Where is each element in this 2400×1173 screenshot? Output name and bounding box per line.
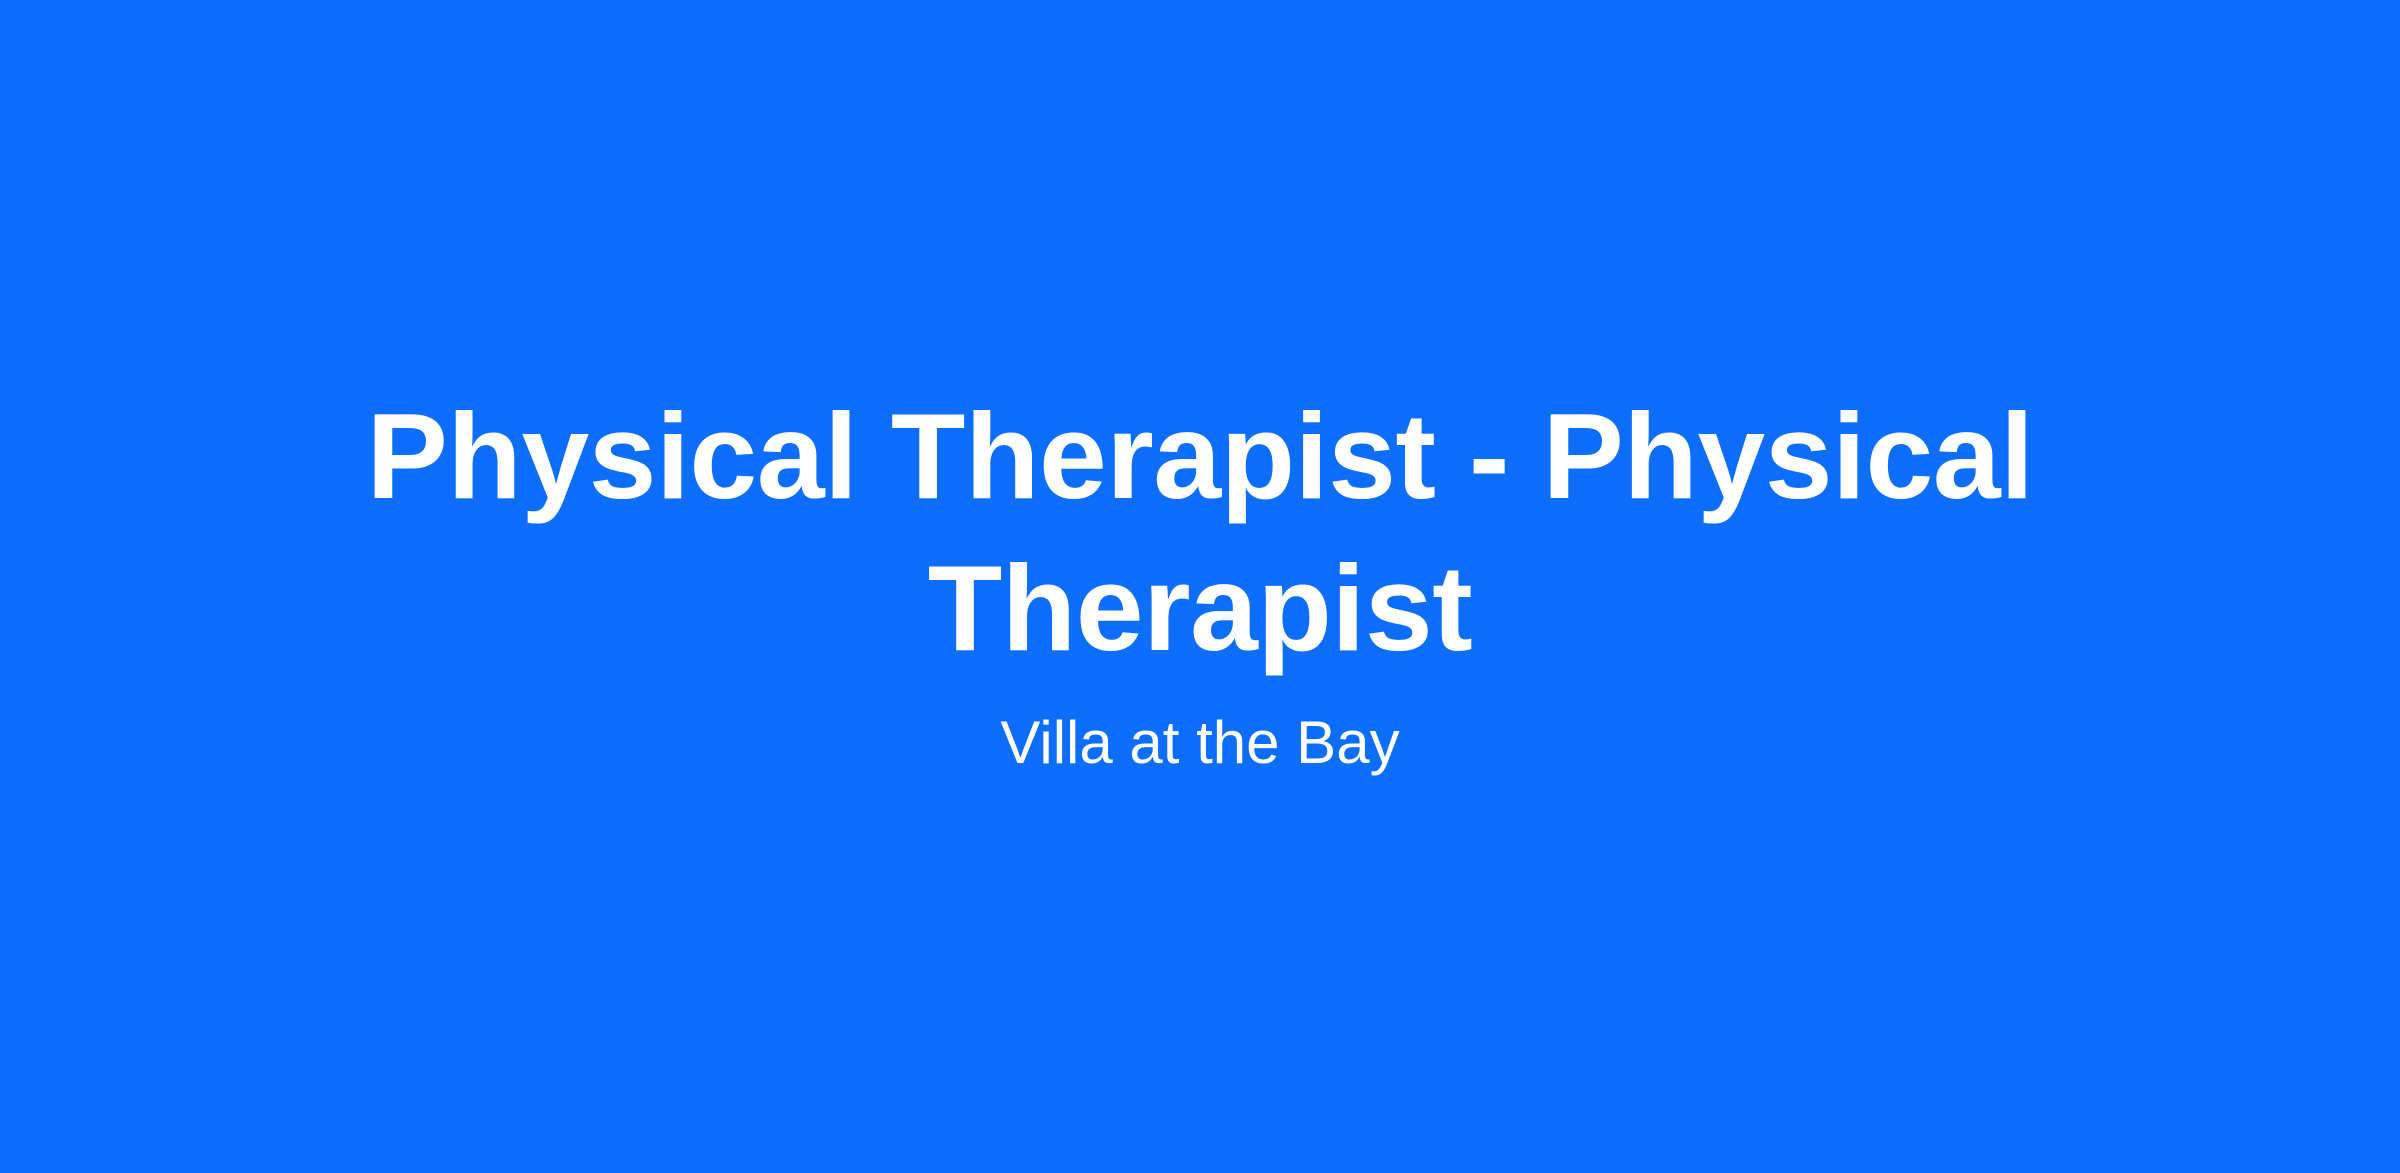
- hero-block: Physical Therapist - Physical Therapist …: [360, 381, 2040, 792]
- page-title: Physical Therapist - Physical Therapist: [360, 381, 2040, 684]
- page-background: Physical Therapist - Physical Therapist …: [0, 0, 2400, 1173]
- page-subtitle: Villa at the Bay: [360, 704, 2040, 782]
